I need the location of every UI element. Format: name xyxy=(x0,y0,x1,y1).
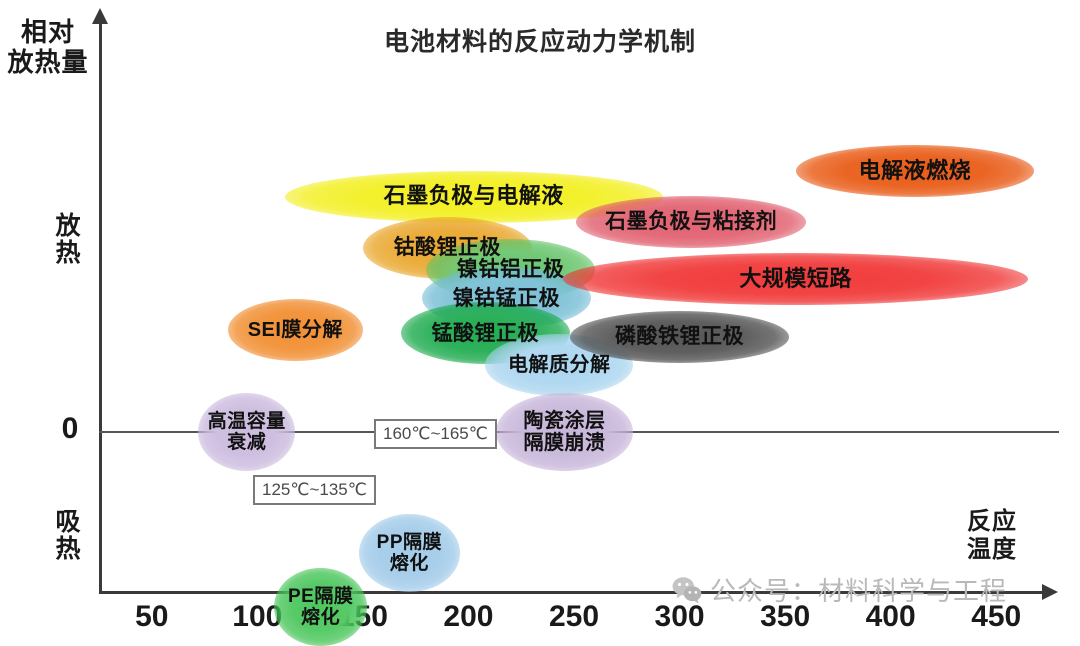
y-axis-title-line2: 放热量 xyxy=(2,48,94,78)
x-axis-tick-350: 350 xyxy=(750,600,820,634)
x-axis-title: 反应 温度 xyxy=(944,508,1040,565)
data-bubble: SEI膜分解 xyxy=(228,299,363,361)
temp-callout-pp: 160℃~165℃ xyxy=(374,419,497,449)
bubble-label: 镍钴锰正极 xyxy=(453,287,561,311)
data-bubble: 高温容量衰减 xyxy=(198,393,295,471)
data-bubble: 石墨负极与粘接剂 xyxy=(576,196,806,248)
bubble-label: 电解质分解 xyxy=(508,354,611,376)
y-axis-title-line1: 相对 xyxy=(2,18,94,48)
y-axis-title: 相对 放热量 xyxy=(2,18,94,78)
watermark: 公众号：材料科学与工程 xyxy=(672,571,1007,608)
x-axis-title-line1: 反应 xyxy=(944,508,1040,536)
x-axis-arrow-icon xyxy=(1042,584,1058,600)
y-axis-line xyxy=(99,22,102,594)
bubble-label: 磷酸铁锂正极 xyxy=(615,325,744,349)
bubble-label: 陶瓷涂层隔膜崩溃 xyxy=(523,410,605,455)
x-axis-tick-400: 400 xyxy=(856,600,926,634)
bubble-label: PP隔膜熔化 xyxy=(377,532,442,575)
y-axis-tick-zero: 0 xyxy=(50,412,90,446)
bubble-label: PE隔膜熔化 xyxy=(288,586,353,629)
x-axis-tick-450: 450 xyxy=(961,600,1031,634)
page-title: 电池材料的反应动力学机制 xyxy=(290,22,790,58)
x-axis-line xyxy=(99,591,1049,594)
bubble-label: 电解液燃烧 xyxy=(859,159,972,184)
bubble-label: 镍钴铝正极 xyxy=(457,258,565,282)
bubble-label: 钴酸锂正极 xyxy=(394,236,502,260)
x-axis-tick-50: 50 xyxy=(117,600,187,634)
bubble-label: 锰酸锂正极 xyxy=(432,322,540,346)
bubble-label: 大规模短路 xyxy=(739,267,852,292)
bubble-label: 石墨负极与粘接剂 xyxy=(605,210,777,234)
data-bubble: PP隔膜熔化 xyxy=(359,514,460,592)
x-axis-tick-250: 250 xyxy=(539,600,609,634)
x-axis-title-line2: 温度 xyxy=(944,536,1040,564)
data-bubble: PE隔膜熔化 xyxy=(274,568,367,646)
y-axis-arrow-icon xyxy=(92,8,108,24)
x-axis-tick-300: 300 xyxy=(645,600,715,634)
bubble-label: 高温容量衰减 xyxy=(208,411,286,454)
bubble-label: SEI膜分解 xyxy=(248,319,343,341)
x-axis-tick-200: 200 xyxy=(433,600,503,634)
bubble-label: 石墨负极与电解液 xyxy=(384,184,564,209)
data-bubble: 大规模短路 xyxy=(563,253,1027,305)
y-axis-label-exothermic: 放热 xyxy=(48,212,84,266)
temp-callout-pe: 125℃~135℃ xyxy=(253,475,376,505)
y-axis-label-endothermic: 吸热 xyxy=(48,508,84,562)
data-bubble: 陶瓷涂层隔膜崩溃 xyxy=(496,393,633,471)
data-bubble: 电解液燃烧 xyxy=(796,145,1035,197)
reaction-kinetics-chart: 电池材料的反应动力学机制 相对 放热量 放热 吸热 0 反应 温度 501001… xyxy=(0,0,1080,643)
